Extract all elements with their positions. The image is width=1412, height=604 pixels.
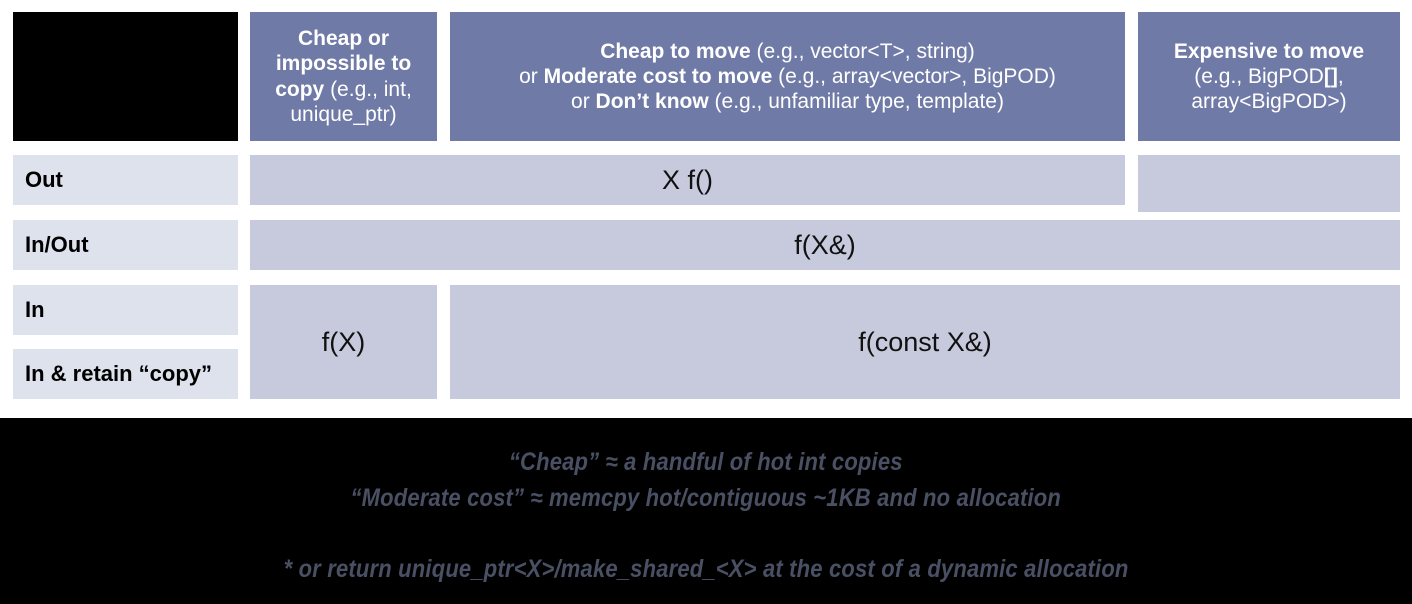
column-header-expensive-to-move: Expensive to move (e.g., BigPOD[], array… xyxy=(1138,12,1400,141)
header-prefix-dont-know: or xyxy=(571,90,596,113)
row-header-in-out-label: In/Out xyxy=(25,232,89,258)
header-expensive-example-brackets: [] xyxy=(1324,65,1338,88)
cell-in-by-const-ref-signature: f(const X&) xyxy=(450,285,1400,399)
header-prefix-moderate: or xyxy=(519,65,544,88)
cell-in-out-signature: f(X&) xyxy=(250,220,1400,270)
row-header-in-and-retain-copy: In & retain “copy” xyxy=(13,349,238,399)
header-rest-dont-know: (e.g., unfamiliar type, template) xyxy=(709,90,1004,113)
column-header-cheap-or-impossible-to-copy: Cheap or impossible to copy (e.g., int, … xyxy=(250,12,437,141)
row-header-out-label: Out xyxy=(25,167,63,193)
row-header-in-out: In/Out xyxy=(13,220,238,270)
header-bold-moderate-cost-to-move: Moderate cost to move xyxy=(544,65,773,88)
cell-in-by-value-signature-label: f(X) xyxy=(322,327,366,358)
row-header-out: Out xyxy=(13,155,238,205)
parameter-passing-table: Cheap or impossible to copy (e.g., int, … xyxy=(0,0,1412,418)
header-rest-moderate-cost-to-move: (e.g., array<vector>, BigPOD) xyxy=(772,65,1056,88)
header-line-moderate-cost-to-move: or Moderate cost to move (e.g., array<ve… xyxy=(519,64,1056,89)
header-line-cheap-to-move: Cheap to move (e.g., vector<T>, string) xyxy=(519,39,1056,64)
cell-out-expensive-blank xyxy=(1138,155,1400,212)
header-line-dont-know: or Don’t know (e.g., unfamiliar type, te… xyxy=(519,89,1056,114)
header-bold-dont-know: Don’t know xyxy=(596,90,709,113)
table-corner-cell xyxy=(13,12,238,141)
footnote-return-smart-pointer: * or return unique_ptr<X>/make_shared_<X… xyxy=(284,551,1129,587)
header-bold-expensive-to-move: Expensive to move xyxy=(1174,40,1364,63)
cell-in-by-value-signature: f(X) xyxy=(250,285,437,399)
header-expensive-example-text: (e.g., BigPOD xyxy=(1194,65,1324,88)
row-header-in-and-retain-copy-label: In & retain “copy” xyxy=(25,361,212,387)
header-bold-expensive-to-move-line: Expensive to move xyxy=(1174,39,1364,64)
header-expensive-example-line1: (e.g., BigPOD[], xyxy=(1174,64,1364,89)
cell-in-out-signature-label: f(X&) xyxy=(794,230,856,261)
header-expensive-example-line2: array<BigPOD>) xyxy=(1174,89,1364,114)
cell-out-signature: X f() xyxy=(250,155,1125,205)
header-bold-cheap-to-move: Cheap to move xyxy=(600,40,751,63)
header-rest-cheap-to-move: (e.g., vector<T>, string) xyxy=(751,40,975,63)
header-expensive-example-comma: , xyxy=(1338,65,1344,88)
slide-root: Cheap or impossible to copy (e.g., int, … xyxy=(0,0,1412,604)
footnote-moderate-cost-definition: “Moderate cost” ≈ memcpy hot/contiguous … xyxy=(351,480,1062,516)
footnote-cheap-definition: “Cheap” ≈ a handful of hot int copies xyxy=(509,444,903,480)
column-header-cheap-to-move: Cheap to move (e.g., vector<T>, string) … xyxy=(450,12,1125,141)
footnotes-section: “Cheap” ≈ a handful of hot int copies “M… xyxy=(0,418,1412,604)
cell-out-signature-label: X f() xyxy=(662,165,713,196)
row-header-in-label: In xyxy=(25,297,45,323)
header-expensive-example-array: array<BigPOD>) xyxy=(1191,90,1346,113)
row-header-in: In xyxy=(13,285,238,335)
cell-in-by-const-ref-signature-label: f(const X&) xyxy=(858,327,992,358)
